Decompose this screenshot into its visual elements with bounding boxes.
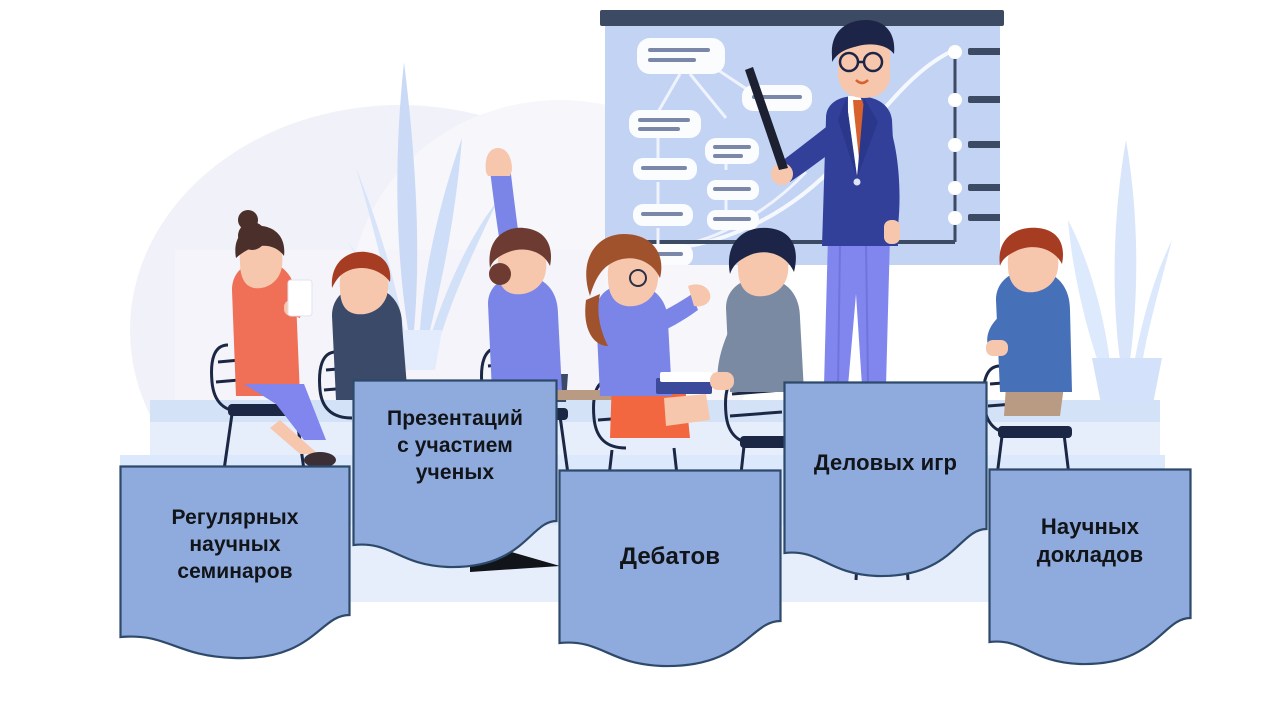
banner-label: Деловых игр — [783, 449, 988, 477]
banner-debates[interactable]: Дебатов — [558, 469, 782, 670]
banner-label: Регулярных научных семинаров — [119, 505, 351, 586]
banner-label: Презентаций с участием ученых — [352, 406, 558, 487]
banner-label: Научных докладов — [988, 513, 1192, 569]
banner-label: Дебатов — [558, 542, 782, 573]
screen-top-bar — [600, 10, 1004, 26]
banner-business-games[interactable]: Деловых игр — [783, 381, 988, 581]
banner-scientific-reports[interactable]: Научных докладов — [988, 468, 1192, 668]
slide-canvas: Регулярных научных семинаров Презентаций… — [0, 0, 1280, 720]
banner-presentations-with-scientists[interactable]: Презентаций с участием ученых — [352, 379, 558, 571]
banner-regular-seminars[interactable]: Регулярных научных семинаров — [119, 465, 351, 660]
presentation-screen — [600, 10, 1004, 266]
banner-shape — [783, 381, 988, 581]
